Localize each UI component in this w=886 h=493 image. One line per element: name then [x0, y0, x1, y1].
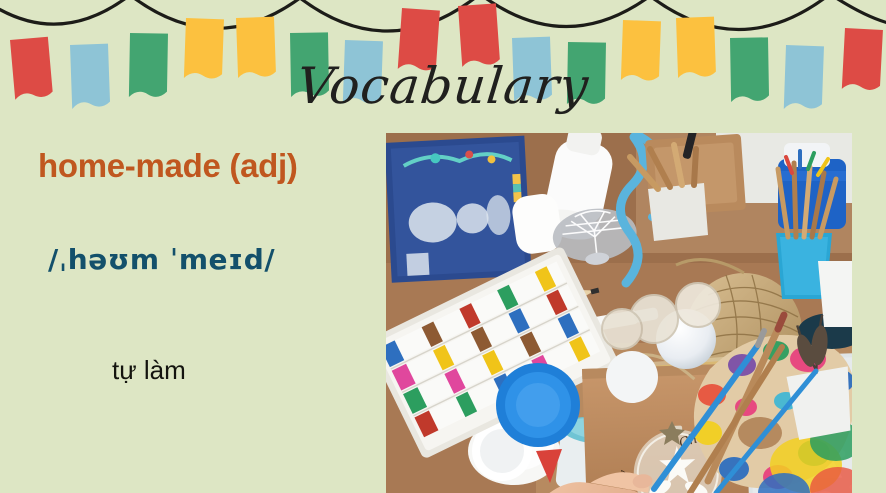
headword-text: home-made (adj) [38, 147, 298, 185]
translation-text: tự làm [112, 355, 186, 386]
page-title: Vocabulary [0, 57, 886, 115]
vocabulary-entry: home-made (adj) /ˌhəʊm ˈmeɪd/ tự làm [0, 130, 386, 493]
vocabulary-slide: Vocabulary home-made (adj) /ˌhəʊm ˈmeɪd/… [0, 0, 886, 493]
handmade-craft-photo: Christmas Merry [386, 133, 852, 493]
phonetic-transcription: /ˌhəʊm ˈmeɪd/ [48, 243, 275, 276]
